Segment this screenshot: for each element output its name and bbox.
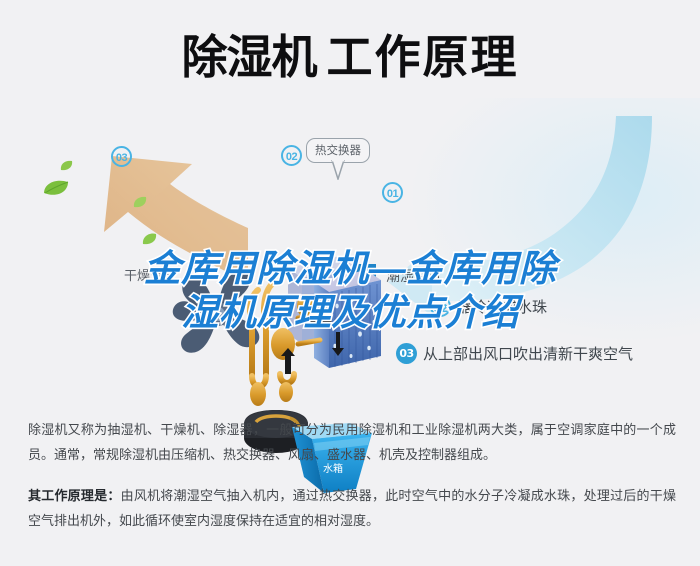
step-badge-03-diagram: 03: [111, 146, 132, 167]
leaf-icon: [43, 180, 69, 197]
page-title-part2: 工作原理: [327, 31, 519, 83]
body-paragraph-2-lead: 其工作原理是：: [28, 489, 121, 504]
page-title-part1: 除湿机: [182, 31, 317, 83]
article-body: 除湿机又称为抽湿机、干燥机、除湿器，一般可分为民用除湿机和工业除湿机两大类，属于…: [28, 418, 676, 534]
dehumidifier-article-page: 除湿机工作原理: [0, 0, 700, 566]
leaf-icon: [60, 160, 73, 171]
overlay-headline: 金库用除湿机—金库用除 湿机原理及优点介绍: [0, 247, 700, 335]
overlay-headline-line2: 湿机原理及优点介绍: [0, 291, 700, 335]
step-caption-03: 03 从上部出风口吹出清新干爽空气: [396, 343, 633, 364]
page-title: 除湿机工作原理: [0, 28, 700, 86]
overlay-headline-line1: 金库用除湿机—金库用除: [0, 247, 700, 291]
step-badge-02-diagram: 02: [281, 145, 302, 166]
step-badge-03: 03: [396, 343, 417, 364]
body-paragraph-1: 除湿机又称为抽湿机、干燥机、除湿器，一般可分为民用除湿机和工业除湿机两大类，属于…: [28, 418, 676, 468]
step-caption-03-text: 从上部出风口吹出清新干爽空气: [423, 343, 633, 364]
leaf-icon: [133, 196, 147, 208]
body-paragraph-2: 其工作原理是：由风机将潮湿空气抽入机内，通过热交换器，此时空气中的水分子冷凝成水…: [28, 484, 676, 534]
body-paragraph-2-rest: 由风机将潮湿空气抽入机内，通过热交换器，此时空气中的水分子冷凝成水珠，处理过后的…: [28, 489, 676, 529]
step-badge-01-diagram: 01: [382, 182, 403, 203]
callout-tail-icon: [331, 160, 345, 180]
leaf-icon: [142, 232, 157, 245]
heat-exchanger-callout-label: 热交换器: [315, 143, 361, 157]
